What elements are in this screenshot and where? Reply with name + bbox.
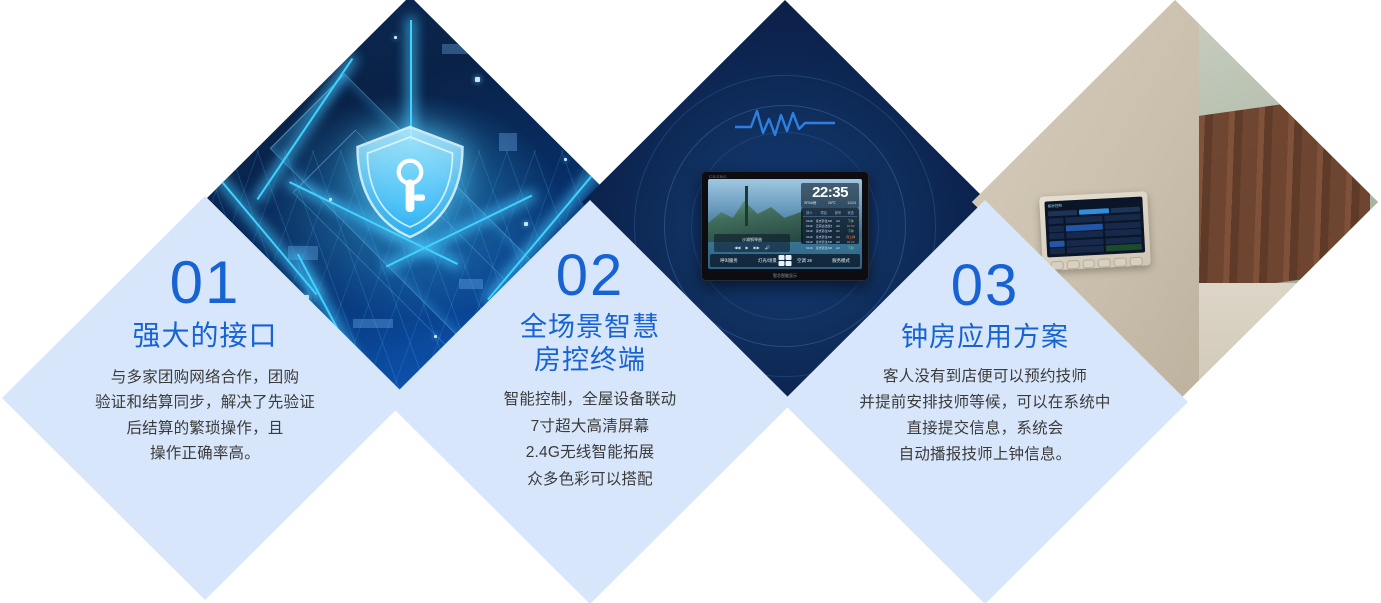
tree (745, 186, 748, 226)
panel-tab[interactable] (1048, 210, 1078, 217)
bar-item-service-mode[interactable]: 服务模式 (832, 258, 850, 264)
table-row: 6119 正宗古法泰式推拿 A2 01:50 (803, 224, 857, 228)
table-row: 6119 泰式养生SPA A2 02:20 (803, 240, 857, 244)
cell-no: A1 (832, 229, 845, 233)
panel-side-item[interactable] (1049, 225, 1065, 232)
panel-menu-item[interactable] (1066, 231, 1103, 239)
clock-widget: 22:35 SPA6房 26℃ 11/24 (801, 183, 859, 208)
app-dot (786, 261, 792, 266)
clock-time: 22:35 (804, 185, 856, 200)
wall-control-panel[interactable]: 客房控制 (1039, 191, 1151, 271)
cell-tech: 6119 (803, 224, 816, 228)
wooden-partition (1183, 92, 1370, 296)
card-description: 与多家团购网络合作，团购 验证和结算同步，解决了先验证 后结算的繁琐操作，且 操… (46, 365, 364, 465)
panel-side-item[interactable] (1048, 218, 1064, 225)
cell-tech: 6119 (803, 240, 816, 244)
panel-menu-item[interactable] (1104, 214, 1141, 222)
cell-item: 泰式养生SPA (816, 240, 832, 244)
panel-menu-item-highlight[interactable] (1105, 244, 1142, 252)
panel-menu-item[interactable] (1105, 229, 1142, 237)
card-heading: 钟房应用方案 (810, 321, 1160, 354)
panel-button[interactable] (1098, 258, 1111, 268)
room-label: SPA6房 (804, 201, 817, 206)
cell-status: 待上钟 (844, 235, 857, 239)
table-row: 6119 泰式养生SPA A2 下钟 (803, 246, 857, 250)
panel-menu-item[interactable] (1067, 238, 1104, 246)
date-label: 11/24 (847, 201, 856, 206)
col-status: 状态 (844, 210, 857, 215)
cell-item: 泰式养生SPA (816, 229, 832, 233)
cell-item: 泰式养生SPA (816, 219, 832, 223)
cell-status: 下钟 (844, 219, 857, 223)
card-heading: 强大的接口 (46, 319, 364, 353)
panel-side-menu[interactable] (1048, 218, 1065, 255)
panel-button[interactable] (1114, 257, 1127, 267)
panel-menu-item[interactable] (1067, 246, 1104, 254)
bar-item-call-service[interactable]: 呼叫服务 (720, 258, 738, 264)
cell-status: 下钟 (844, 246, 857, 250)
panel-button[interactable] (1066, 260, 1079, 270)
panel-button[interactable] (1130, 256, 1143, 266)
app-dot (786, 255, 792, 260)
player-controls[interactable]: ◀◀ ▶ ▶▶ 🔊 (734, 245, 769, 250)
col-no: 钟号 (832, 210, 845, 215)
next-icon[interactable]: ▶▶ (754, 245, 760, 250)
plant (1235, 334, 1305, 380)
card-heading: 全场景智慧 房控终端 (421, 311, 759, 377)
card-description: 客人没有到店便可以预约技师 并提前安排技师等候，可以在系统中 直接提交信息，系统… (810, 364, 1160, 468)
col-item: 项目 (816, 210, 832, 215)
shield-lock-icon (346, 122, 474, 242)
player-track-title: 沙滩钢琴曲 (742, 237, 762, 243)
cell-item: 正宗古法泰式推拿 (816, 224, 832, 228)
bar-item-aircon[interactable]: 空调 26 (797, 258, 812, 264)
panel-menu-item[interactable] (1105, 236, 1142, 244)
panel-side-item[interactable] (1049, 233, 1065, 240)
panel-tab-active[interactable] (1079, 208, 1109, 215)
music-player-widget[interactable]: 沙滩钢琴曲 ◀◀ ▶ ▶▶ 🔊 (714, 234, 790, 252)
tablet-screen[interactable]: 22:35 SPA6房 26℃ 11/24 钟人 项目 钟号 状态 (708, 179, 862, 269)
cell-item: 泰式养生SPA (816, 235, 832, 239)
cell-no: A2 (832, 246, 845, 250)
tablet-footer-brand: 智芯智能显示 (702, 273, 868, 279)
cell-no: A2 (832, 219, 845, 223)
apps-grid-icon[interactable] (779, 255, 792, 266)
play-icon[interactable]: ▶ (745, 245, 748, 250)
panel-menu-item[interactable] (1066, 216, 1103, 224)
cell-status: 01:50 (844, 224, 857, 228)
table-row: 6119 泰式养生SPA A2 待上钟 (803, 235, 857, 239)
service-list[interactable]: 钟人 项目 钟号 状态 6119 泰式养生SPA A2 下钟 6119 (801, 208, 859, 244)
panel-menu-item-selected[interactable] (1066, 223, 1103, 231)
panel-side-item-active[interactable] (1049, 240, 1065, 247)
panel-screen[interactable]: 客房控制 (1044, 196, 1145, 257)
cell-item: 泰式养生SPA (816, 246, 832, 250)
app-dot (779, 255, 785, 260)
bar-item-lighting[interactable]: 灯光/场景 (758, 258, 777, 264)
diamond-feature-collage: CSIZBO 22:35 SPA6房 26℃ 11/24 (0, 0, 1381, 603)
cell-tech: 6119 (803, 246, 816, 250)
cell-tech: 6119 (803, 229, 816, 233)
plant (1300, 283, 1354, 323)
cell-no: A2 (832, 224, 845, 228)
cell-tech: 6119 (803, 235, 816, 239)
panel-menu-column-right[interactable] (1104, 214, 1142, 252)
cell-tech: 6119 (803, 219, 816, 223)
service-list-header: 钟人 项目 钟号 状态 (803, 210, 857, 217)
panel-menu-item[interactable] (1104, 221, 1141, 229)
panel-tab[interactable] (1110, 207, 1140, 214)
panel-side-item[interactable] (1050, 248, 1066, 255)
cell-no: A2 (832, 240, 845, 244)
col-tech: 钟人 (803, 210, 816, 215)
cell-no: A2 (832, 235, 845, 239)
panel-menu-column-left[interactable] (1066, 216, 1104, 254)
cell-status: 下钟 (844, 229, 857, 233)
room-control-tablet[interactable]: CSIZBO 22:35 SPA6房 26℃ 11/24 (701, 171, 869, 281)
temperature-label: 26℃ (828, 201, 836, 206)
app-dot (779, 261, 785, 266)
prev-icon[interactable]: ◀◀ (734, 245, 740, 250)
cell-status: 02:20 (844, 240, 857, 244)
table-row: 6119 泰式养生SPA A1 下钟 (803, 229, 857, 233)
volume-icon[interactable]: 🔊 (765, 245, 770, 250)
pulse-wave-icon (735, 105, 835, 139)
table-row: 6119 泰式养生SPA A2 下钟 (803, 219, 857, 223)
plant (1210, 370, 1256, 404)
card-description: 智能控制，全屋设备联动 7寸超大高清屏幕 2.4G无线智能拓展 众多色彩可以搭配 (421, 387, 759, 494)
panel-button[interactable] (1082, 259, 1095, 269)
